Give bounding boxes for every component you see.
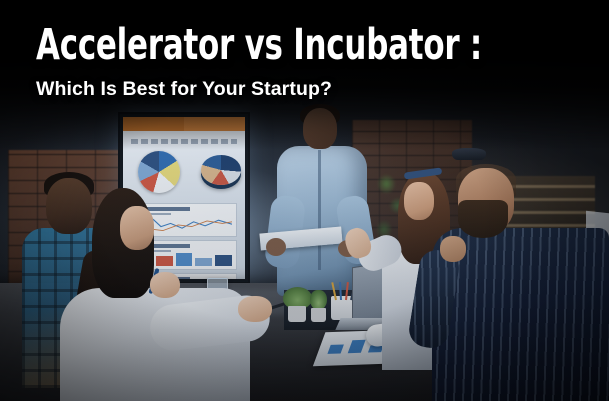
pie-chart-3d	[201, 155, 241, 185]
banner-headline: Accelerator vs Incubator :	[36, 24, 478, 67]
plant-pot	[288, 306, 306, 322]
bar	[348, 340, 366, 353]
pencil	[339, 282, 342, 300]
foreground-woman-face	[120, 206, 154, 250]
standing-presenter-head	[303, 108, 337, 149]
foreground-woman-hand	[238, 296, 272, 322]
desk-lamp	[452, 148, 486, 160]
presenter-left-hand	[266, 238, 286, 256]
bar	[215, 255, 232, 266]
pencil	[345, 282, 349, 300]
pie-chart-flat	[138, 151, 180, 193]
plaid-man-head	[46, 178, 92, 234]
slide-topbar-cell	[184, 117, 245, 131]
seated-woman-face	[404, 182, 434, 220]
slide-header-text	[131, 139, 237, 144]
shirt-placket	[318, 150, 321, 270]
pencil	[331, 282, 337, 300]
bearded-man-hand	[440, 236, 466, 262]
plant-pot	[311, 308, 326, 322]
banner-subtitle: Which Is Best for Your Startup?	[36, 78, 589, 100]
bar	[176, 253, 193, 266]
bar	[156, 256, 173, 266]
bar	[195, 258, 212, 266]
beard	[458, 200, 508, 238]
slide-topbar-cell	[123, 117, 184, 131]
bar	[327, 344, 343, 353]
plant-foliage	[310, 290, 327, 310]
foreground-woman-hand	[150, 272, 180, 298]
banner-text-block: Accelerator vs Incubator : Which Is Best…	[36, 24, 589, 100]
hero-banner: Accelerator vs Incubator : Which Is Best…	[0, 0, 609, 401]
slide-topbar	[123, 117, 245, 131]
